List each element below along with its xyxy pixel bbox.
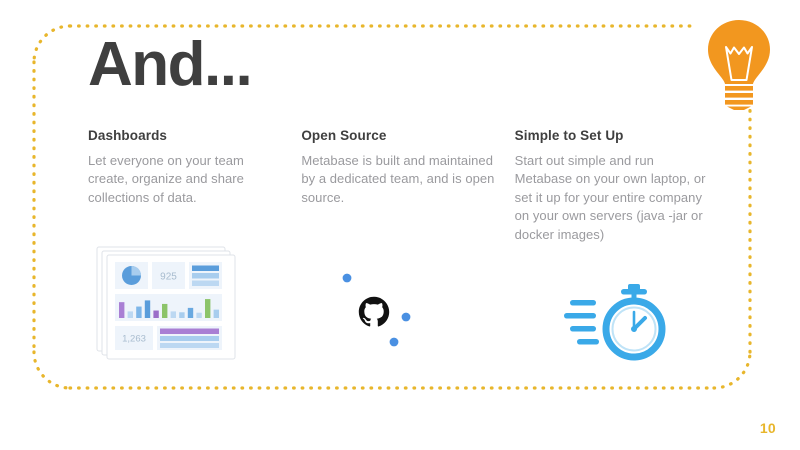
mini-bar [128,311,133,318]
column-body-dashboards: Let everyone on your team create, organi… [88,152,281,207]
column-heading-open-source: Open Source [301,128,494,143]
mini-bar [179,312,184,318]
column-heading-simple-to-set-up: Simple to Set Up [515,128,708,143]
page-number: 10 [760,420,776,436]
slide-canvas: And... Dashboards Let everyone on your t… [0,0,800,450]
github-icon [359,297,389,327]
mini-bar [153,311,158,318]
metric-tile-925: 925 [152,262,185,289]
node-dot-bottom [390,338,399,347]
feature-columns: Dashboards Let everyone on your team cre… [88,128,728,244]
node-dot-right [402,313,411,322]
mini-bar [162,304,167,318]
table-tile [157,326,222,350]
lightbulb-icon [708,20,770,110]
feature-column-simple-to-set-up: Simple to Set Up Start out simple and ru… [515,128,728,244]
speed-lines-icon [564,300,599,345]
feature-column-dashboards: Dashboards Let everyone on your team cre… [88,128,301,244]
list-tile [189,262,222,289]
dashboard-illustration: 925 1,263 [96,246,246,361]
metric-tile-1263: 1,263 [115,326,153,350]
column-body-open-source: Metabase is built and maintained by a de… [301,152,494,207]
feature-column-open-source: Open Source Metabase is built and mainta… [301,128,514,244]
mini-bar [119,302,124,318]
node-dot-top-left [343,274,352,283]
column-body-simple-to-set-up: Start out simple and run Metabase on you… [515,152,708,244]
stopwatch-icon [606,284,662,357]
pie-chart-tile [115,262,148,289]
mini-bar [171,311,176,318]
github-illustration [330,264,422,356]
mini-bar [196,313,201,318]
mini-bar [188,308,193,318]
metric-value-925: 925 [160,272,177,283]
mini-bar [205,299,210,318]
bar-chart-tile [115,294,222,321]
stopwatch-illustration [564,282,674,362]
mini-bar [145,300,150,318]
metric-value-1263: 1,263 [122,334,146,345]
page-title: And... [88,34,251,96]
mini-bar [214,310,219,318]
mini-bar [136,307,141,318]
lightbulb-illustration [700,18,778,110]
column-heading-dashboards: Dashboards [88,128,281,143]
